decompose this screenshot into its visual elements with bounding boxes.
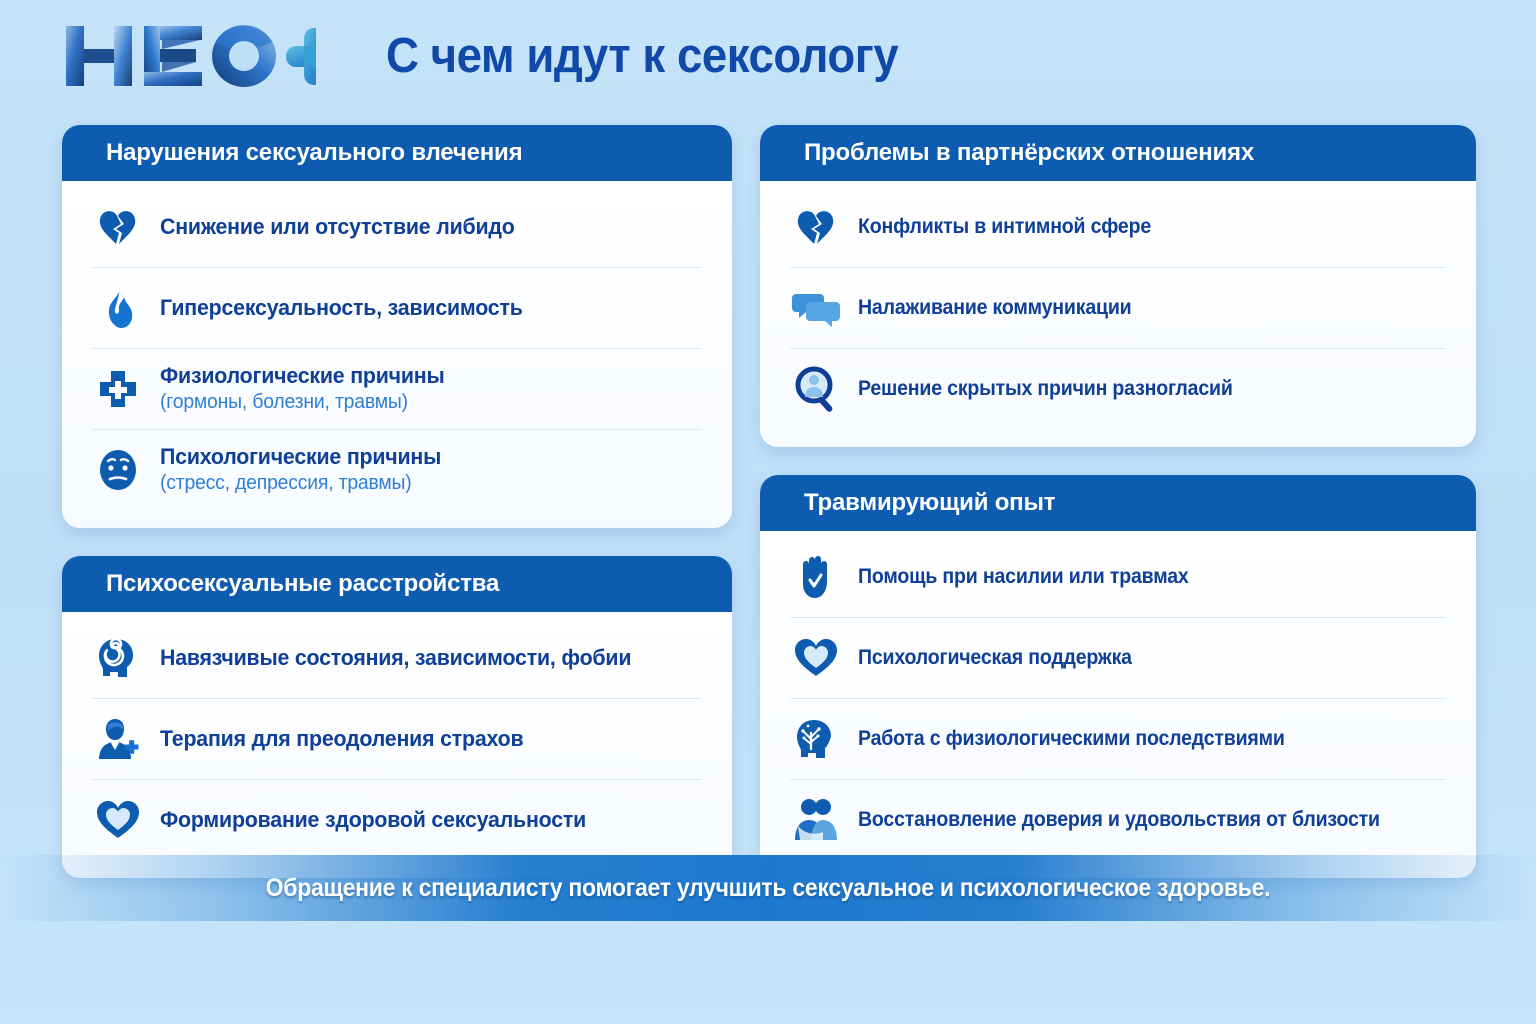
list-item-label: Восстановление доверия и удовольствия от… — [858, 808, 1380, 833]
list-item-text: Терапия для преодоления страхов — [160, 726, 535, 752]
card-header-title: Проблемы в партнёрских отношениях — [760, 125, 1476, 181]
list-item[interactable]: Налаживание коммуникации — [790, 268, 1446, 349]
broken-heart-icon — [790, 201, 842, 253]
list-item-text: Восстановление доверия и удовольствия от… — [858, 808, 1419, 833]
page-header: С чем идут к сексологу — [0, 0, 1536, 112]
list-item[interactable]: Психологические причины(стресс, депресси… — [92, 430, 702, 510]
card-item-list: Помощь при насилии или травмах Психологи… — [760, 531, 1476, 878]
list-item-text: Налаживание коммуникации — [858, 296, 1152, 321]
list-item-label: Формирование здоровой сексуальности — [160, 807, 586, 833]
person-plus-icon — [92, 713, 144, 765]
list-item-text: Работа с физиологическими последствиями — [858, 727, 1317, 752]
list-item[interactable]: Физиологические причины(гормоны, болезни… — [92, 349, 702, 430]
card-item-list: Конфликты в интимной сфере Налаживание к… — [760, 181, 1476, 447]
list-item-label: Физиологические причины — [160, 363, 445, 389]
list-item-text: Физиологические причины(гормоны, болезни… — [160, 363, 453, 415]
heart-icon — [92, 794, 144, 846]
left-column: Нарушения сексуального влечения Снижение… — [62, 125, 732, 878]
page-title: С чем идут к сексологу — [386, 20, 898, 92]
right-column: Проблемы в партнёрских отношениях Конфли… — [760, 125, 1476, 878]
list-item-text: Психологическая поддержка — [858, 646, 1152, 671]
list-item-label: Решение скрытых причин разногласий — [858, 377, 1233, 402]
list-item[interactable]: Восстановление доверия и удовольствия от… — [790, 780, 1446, 860]
card-header-title: Травмирующий опыт — [760, 475, 1476, 531]
list-item-label: Навязчивые состояния, зависимости, фобии — [160, 645, 631, 671]
sad-face-icon — [92, 444, 144, 496]
list-item-label: Конфликты в интимной сфере — [858, 215, 1151, 240]
heart-icon — [790, 632, 842, 684]
list-item[interactable]: Психологическая поддержка — [790, 618, 1446, 699]
list-item[interactable]: Терапия для преодоления страхов — [92, 699, 702, 780]
list-item-text: Снижение или отсутствие либидо — [160, 214, 526, 240]
card-item-list: Снижение или отсутствие либидо Гиперсекс… — [62, 181, 732, 528]
list-item[interactable]: Навязчивые состояния, зависимости, фобии — [92, 618, 702, 699]
footer-text: Обращение к специалисту помогает улучшит… — [266, 874, 1271, 903]
list-item-label: Работа с физиологическими последствиями — [858, 727, 1285, 752]
list-item-label: Психологическая поддержка — [858, 646, 1132, 671]
footer-banner: Обращение к специалисту помогает улучшит… — [0, 855, 1536, 921]
list-item-label: Налаживание коммуникации — [858, 296, 1131, 321]
couple-embrace-icon — [790, 794, 842, 846]
list-item-label: Психологические причины — [160, 444, 441, 470]
head-spiral-icon — [92, 632, 144, 684]
hand-stop-icon — [790, 551, 842, 603]
category-card: Травмирующий опыт Помощь при насилии или… — [760, 475, 1476, 878]
list-item-text: Гиперсексуальность, зависимость — [160, 295, 534, 321]
list-item[interactable]: Помощь при насилии или травмах — [790, 537, 1446, 618]
category-card: Проблемы в партнёрских отношениях Конфли… — [760, 125, 1476, 447]
list-item-text: Психологические причины(стресс, депресси… — [160, 444, 450, 496]
list-item-label: Гиперсексуальность, зависимость — [160, 295, 523, 321]
list-item[interactable]: Формирование здоровой сексуальности — [92, 780, 702, 860]
list-item-label: Помощь при насилии или травмах — [858, 565, 1189, 590]
list-item[interactable]: Работа с физиологическими последствиями — [790, 699, 1446, 780]
medical-cross-icon — [92, 363, 144, 415]
list-item-label: Снижение или отсутствие либидо — [160, 214, 515, 240]
category-card: Нарушения сексуального влечения Снижение… — [62, 125, 732, 528]
list-item-text: Конфликты в интимной сфере — [858, 215, 1173, 240]
card-header-title: Психосексуальные расстройства — [62, 556, 732, 612]
chat-bubbles-icon — [790, 282, 842, 334]
list-item[interactable]: Снижение или отсутствие либидо — [92, 187, 702, 268]
list-item-text: Формирование здоровой сексуальности — [160, 807, 599, 833]
list-item-label: Терапия для преодоления страхов — [160, 726, 523, 752]
list-item[interactable]: Конфликты в интимной сфере — [790, 187, 1446, 268]
list-item-text: Помощь при насилии или травмах — [858, 565, 1213, 590]
list-item-text: Навязчивые состояния, зависимости, фобии — [160, 645, 646, 671]
list-item[interactable]: Гиперсексуальность, зависимость — [92, 268, 702, 349]
category-card: Психосексуальные расстройства Навязчивые… — [62, 556, 732, 878]
list-item-text: Решение скрытых причин разногласий — [858, 377, 1261, 402]
card-item-list: Навязчивые состояния, зависимости, фобии… — [62, 612, 732, 878]
list-item-subtitle: (стресс, депрессия, травмы) — [160, 472, 441, 496]
head-tree-icon — [790, 713, 842, 765]
neo-plus-logo — [58, 16, 316, 96]
magnifier-person-icon — [790, 363, 842, 415]
card-header-title: Нарушения сексуального влечения — [62, 125, 732, 181]
list-item-subtitle: (гормоны, болезни, травмы) — [160, 391, 445, 415]
broken-heart-icon — [92, 201, 144, 253]
flame-icon — [92, 282, 144, 334]
list-item[interactable]: Решение скрытых причин разногласий — [790, 349, 1446, 429]
